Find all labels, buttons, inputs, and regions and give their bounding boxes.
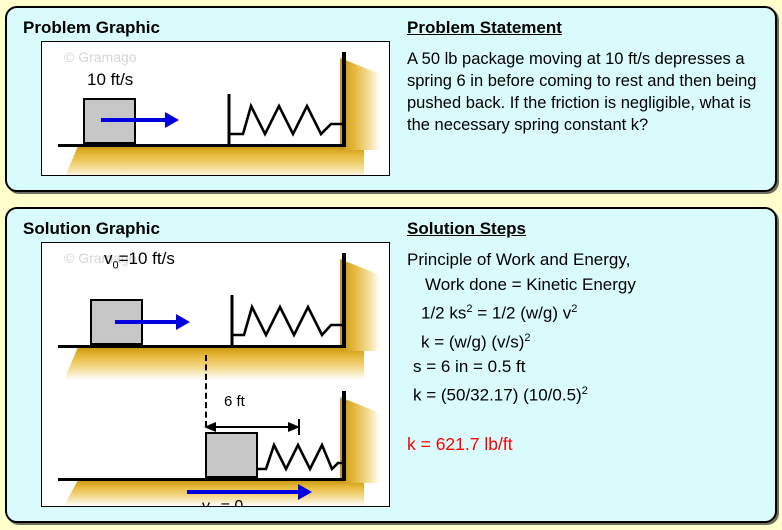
solution-steps-title: Solution Steps	[407, 219, 526, 239]
initial-velocity-value: =10 ft/s	[119, 249, 175, 268]
solution-step: k = (50/32.17) (10/0.5)2	[407, 379, 636, 408]
upper-wall-shadow	[340, 259, 380, 351]
problem-statement-text: A 50 lb package moving at 10 ft/s depres…	[407, 48, 759, 136]
solution-steps-column: Solution Steps Principle of Work and Ene…	[399, 209, 775, 521]
solution-step: 1/2 ks2 = 1/2 (w/g) v2	[407, 297, 636, 326]
problem-statement-column: Problem Statement A 50 lb package moving…	[399, 8, 775, 190]
solution-graphic-column: Solution Graphic © Gramago v0=10 ft/s 6 …	[7, 209, 397, 521]
final-velocity-label: v1 = 0	[202, 498, 243, 507]
problem-velocity-label: 10 ft/s	[87, 70, 133, 90]
solution-step: Work done = Kinetic Energy	[407, 272, 636, 297]
problem-graphic-canvas: © Gramago 10 ft/s	[41, 41, 390, 176]
solution-step: Principle of Work and Energy,	[407, 247, 636, 272]
final-velocity-symbol: v	[202, 498, 210, 507]
solution-steps-list: Principle of Work and Energy,Work done =…	[407, 247, 636, 408]
velocity-arrow	[101, 118, 166, 122]
dimension-label: 6 ft	[224, 393, 245, 410]
solution-graphic-title: Solution Graphic	[23, 219, 160, 239]
lower-wall-shadow	[340, 397, 380, 483]
problem-graphic-column: Problem Graphic © Gramago 10 ft/s	[7, 8, 397, 190]
problem-panel: Problem Graphic © Gramago 10 ft/s Pro	[5, 6, 777, 192]
initial-velocity-symbol: v	[104, 249, 113, 268]
reference-dashed-line	[205, 355, 207, 427]
problem-graphic-title: Problem Graphic	[23, 18, 160, 38]
solution-panel: Solution Graphic © Gramago v0=10 ft/s 6 …	[5, 207, 777, 523]
spring-icon-compressed	[258, 433, 346, 481]
final-velocity-value: = 0	[216, 498, 243, 507]
problem-statement-title: Problem Statement	[407, 18, 562, 38]
watermark-problem: © Gramago	[64, 49, 137, 65]
initial-velocity-label: v0=10 ft/s	[104, 249, 175, 271]
solution-answer: k = 621.7 lb/ft	[407, 434, 513, 455]
final-velocity-subscript: 1	[210, 506, 216, 507]
initial-velocity-arrow	[115, 320, 177, 324]
spring-icon-extended	[230, 295, 345, 347]
upper-ground-shadow	[64, 347, 364, 380]
wall-shadow	[340, 58, 380, 150]
ground-shadow	[64, 146, 364, 176]
package-block-final	[205, 432, 258, 478]
final-velocity-arrow	[187, 490, 299, 494]
solution-graphic-canvas: © Gramago v0=10 ft/s 6 ft	[41, 242, 390, 507]
spring-icon	[227, 94, 345, 146]
solution-step: k = (w/g) (v/s)2	[407, 326, 636, 355]
solution-step: s = 6 in = 0.5 ft	[407, 354, 636, 379]
